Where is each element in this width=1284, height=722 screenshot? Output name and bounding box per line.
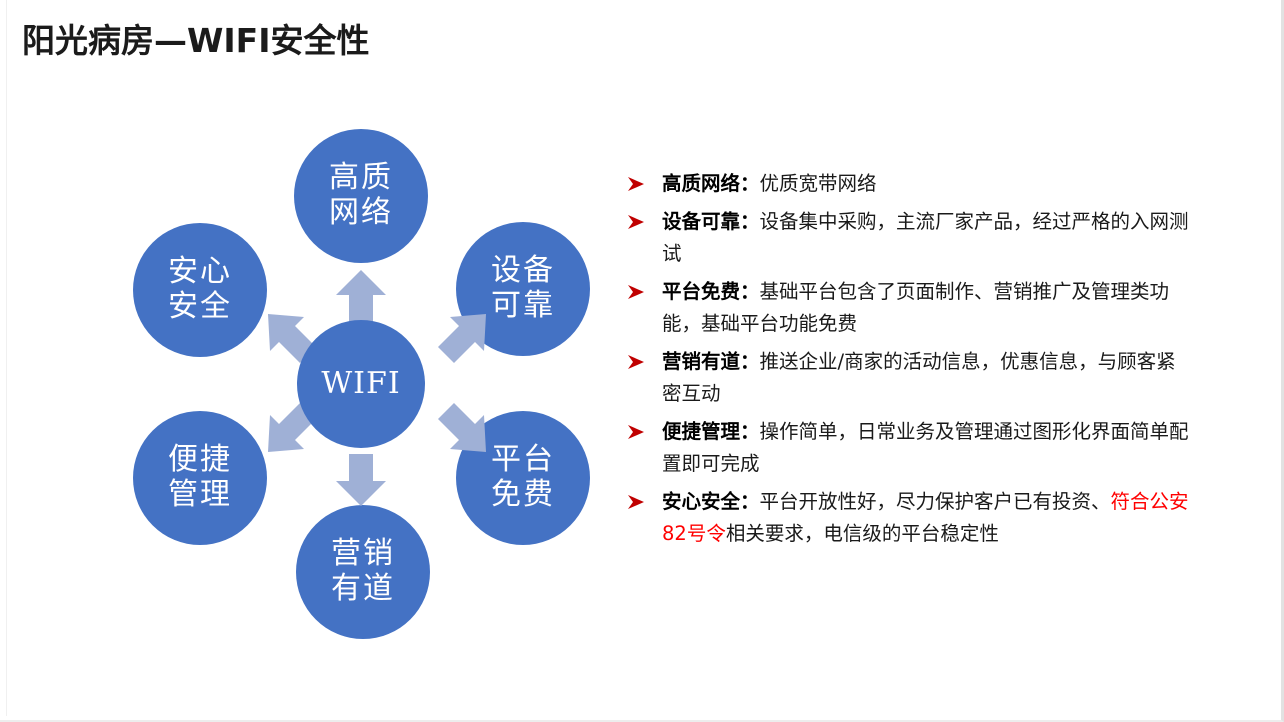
node-label-line2: 网络: [329, 196, 393, 231]
arrow-bullet-icon: [626, 492, 646, 512]
bullet-term: 高质网络: [662, 172, 740, 195]
node-label-line2: 免费: [491, 478, 555, 513]
node-label-line2: 安全: [168, 290, 232, 325]
diagram-node-effective-marketing[interactable]: 营销 有道: [296, 505, 430, 639]
arrow-lower-right-icon: [432, 398, 490, 456]
arrow-upper-right-icon: [432, 310, 490, 368]
bullet-separator: ：: [740, 280, 760, 303]
node-label-line1: 安心: [168, 255, 232, 290]
node-label-line2: 管理: [168, 478, 232, 513]
list-item: 安心安全：平台开放性好，尽力保护客户已有投资、符合公安82号令相关要求，电信级的…: [624, 486, 1190, 550]
node-label-line2: 有道: [331, 572, 395, 607]
arrow-down-icon: [334, 452, 388, 508]
arrow-bullet-icon: [626, 282, 646, 302]
bullet-term: 便捷管理: [662, 420, 740, 443]
node-label-line1: 营销: [331, 537, 395, 572]
list-item: 营销有道：推送企业/商家的活动信息，优惠信息，与顾客紧密互动: [624, 346, 1190, 410]
diagram-node-high-quality-network[interactable]: 高质 网络: [294, 129, 428, 263]
arrow-bullet-icon: [626, 422, 646, 442]
benefits-bullet-list: 高质网络：优质宽带网络 设备可靠：设备集中采购，主流厂家产品，经过严格的入网测试…: [624, 168, 1190, 556]
node-label-line1: 高质: [329, 161, 393, 196]
bullet-term: 平台免费: [662, 280, 740, 303]
bullet-separator: ：: [740, 420, 760, 443]
wifi-benefits-diagram: 高质 网络 设备 可靠 平台 免费 营销 有道 便捷 管理 安心 安全 WIFI: [0, 0, 640, 722]
arrow-up-icon: [334, 268, 388, 324]
bullet-term: 安心安全: [662, 490, 740, 513]
bullet-body-pre: 平台开放性好，尽力保护客户已有投资、: [760, 490, 1111, 513]
node-label-line1: 便捷: [168, 443, 232, 478]
bullet-body-post: 相关要求，电信级的平台稳定性: [726, 522, 999, 545]
node-label-line1: 设备: [491, 254, 555, 289]
diagram-node-convenient-management[interactable]: 便捷 管理: [133, 411, 267, 545]
arrow-bullet-icon: [626, 174, 646, 194]
slide-canvas: 阳光病房—WIFI安全性: [0, 0, 1284, 722]
diagram-node-wifi-center[interactable]: WIFI: [297, 320, 425, 448]
list-item: 便捷管理：操作简单，日常业务及管理通过图形化界面简单配置即可完成: [624, 416, 1190, 480]
node-label-line1: 平台: [491, 443, 555, 478]
bullet-body: 优质宽带网络: [760, 172, 877, 195]
bullet-term: 营销有道: [662, 350, 740, 373]
bullet-term: 设备可靠: [662, 210, 740, 233]
bullet-separator: ：: [740, 172, 760, 195]
node-label-wifi: WIFI: [321, 367, 400, 402]
diagram-node-worry-free-security[interactable]: 安心 安全: [133, 223, 267, 357]
list-item: 高质网络：优质宽带网络: [624, 168, 1190, 200]
list-item: 设备可靠：设备集中采购，主流厂家产品，经过严格的入网测试: [624, 206, 1190, 270]
bullet-separator: ：: [740, 210, 760, 233]
arrow-bullet-icon: [626, 352, 646, 372]
bullet-separator: ：: [740, 350, 760, 373]
arrow-bullet-icon: [626, 212, 646, 232]
bullet-separator: ：: [740, 490, 760, 513]
node-label-line2: 可靠: [491, 289, 555, 324]
list-item: 平台免费：基础平台包含了页面制作、营销推广及管理类功能，基础平台功能免费: [624, 276, 1190, 340]
